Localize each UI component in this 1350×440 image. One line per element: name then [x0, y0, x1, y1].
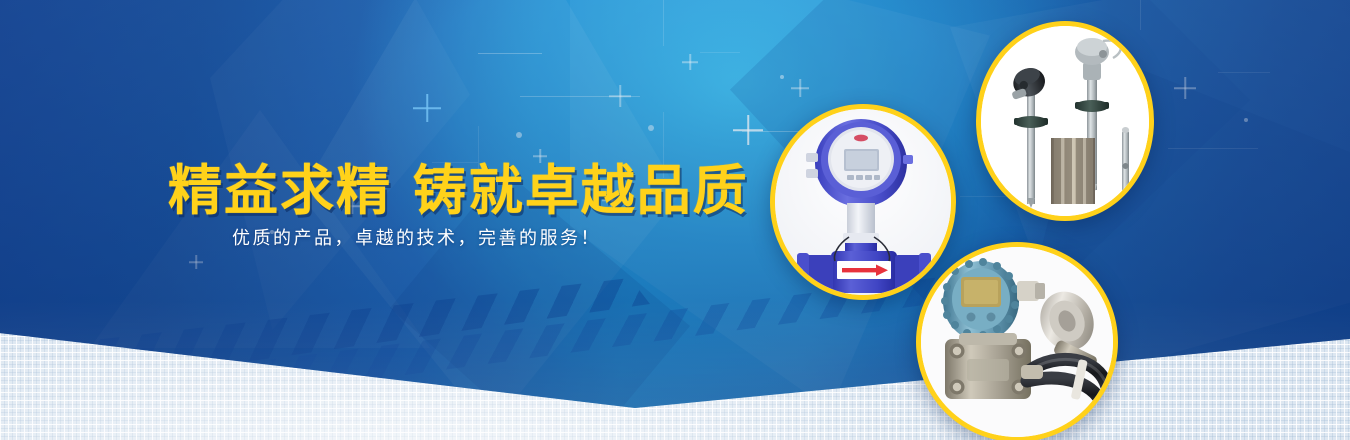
promo-banner: 精益求精 铸就卓越品质 优质的产品，卓越的技术，完善的服务！: [0, 0, 1350, 440]
page-subtitle: 优质的产品，卓越的技术，完善的服务！: [232, 224, 601, 250]
product-circle-transmitter[interactable]: [916, 242, 1118, 440]
product-circle-thermocouple[interactable]: [976, 21, 1154, 221]
page-title: 精益求精 铸就卓越品质: [168, 146, 749, 225]
thermocouple-photo: [981, 26, 1149, 216]
transmitter-photo: [921, 247, 1113, 437]
